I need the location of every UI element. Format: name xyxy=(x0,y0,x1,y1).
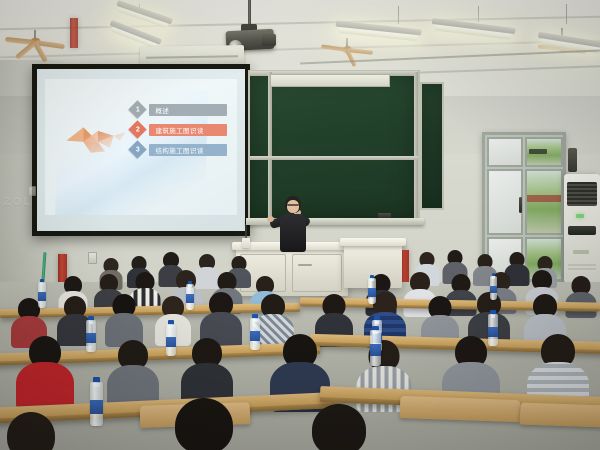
slide-toc: 1 概述 2 建筑施工图识读 xyxy=(131,103,227,163)
audience-member xyxy=(204,292,238,342)
toc-diamond-3: 3 xyxy=(129,141,147,159)
screen-surface: 1 概述 2 建筑施工图识读 xyxy=(37,69,245,231)
ac-grille xyxy=(567,182,597,206)
podium-side-top xyxy=(340,238,406,246)
light-hanger-4 xyxy=(566,4,567,24)
podium-mug[interactable] xyxy=(242,238,250,248)
water-bottle[interactable] xyxy=(86,320,96,352)
light-hanger-2 xyxy=(398,6,399,24)
ac-brand-logo xyxy=(573,250,589,254)
toc-item-1: 1 概述 xyxy=(131,103,227,116)
door-view-red-roof xyxy=(527,195,561,202)
water-bottle[interactable] xyxy=(250,318,260,350)
water-bottle[interactable] xyxy=(370,330,381,366)
toc-number-3: 3 xyxy=(136,146,140,153)
water-bottle[interactable] xyxy=(488,314,498,346)
toc-label-1: 概述 xyxy=(155,105,169,115)
audience-member-foreground xyxy=(166,398,242,450)
door-sign xyxy=(529,149,547,154)
presentation-slide: 1 概述 2 建筑施工图识读 xyxy=(45,79,236,215)
projection-screen[interactable]: 1 概述 2 建筑施工图识读 xyxy=(32,64,250,236)
chalkboard-eraser[interactable] xyxy=(378,213,391,218)
toc-label-bar-2: 建筑施工图识读 xyxy=(149,124,227,136)
toc-item-3: 3 结构施工图识读 xyxy=(131,143,227,156)
toc-number-1: 1 xyxy=(136,106,140,113)
water-bottle[interactable] xyxy=(166,324,176,356)
water-bottle[interactable] xyxy=(186,284,194,310)
classroom-photo: 1 概述 2 建筑施工图识读 xyxy=(0,0,600,450)
audience-member xyxy=(22,336,68,406)
water-bottle[interactable] xyxy=(490,276,497,300)
water-bottle[interactable] xyxy=(90,382,103,426)
toc-label-bar-1: 概述 xyxy=(149,104,227,116)
tangram-bird-graphic xyxy=(57,114,141,168)
door-handle[interactable] xyxy=(519,197,522,213)
toc-diamond-1: 1 xyxy=(129,101,147,119)
audience-member xyxy=(112,340,154,406)
presenter-face xyxy=(287,200,299,213)
projector-vent xyxy=(262,34,276,46)
chalkboard-divider-right xyxy=(414,72,418,218)
door-glass-upper-right xyxy=(525,169,563,235)
chalkboard-mid-rail xyxy=(250,156,418,160)
water-bottle[interactable] xyxy=(368,278,376,304)
toc-item-2: 2 建筑施工图识读 xyxy=(131,123,227,136)
audience-member xyxy=(186,338,228,404)
water-bottle[interactable] xyxy=(38,282,46,308)
door-glass-upper-left xyxy=(487,169,523,235)
ac-status-led xyxy=(576,214,584,218)
toc-label-bar-3: 结构施工图识读 xyxy=(149,144,227,156)
presenter xyxy=(272,196,314,254)
ac-air-vent xyxy=(568,262,595,272)
chalkboard-sliding-panel[interactable] xyxy=(270,74,390,87)
toc-number-2: 2 xyxy=(136,126,140,133)
red-ceiling-beam xyxy=(70,18,78,48)
door-transom-left xyxy=(487,137,523,167)
ceiling-fan-left xyxy=(5,30,65,52)
wall-speaker xyxy=(568,148,577,172)
bench-back xyxy=(520,402,600,427)
presenter-torso xyxy=(280,214,306,252)
presenter-left-hand xyxy=(267,216,274,222)
ceiling-fan-center xyxy=(320,38,374,58)
toc-label-2: 建筑施工图识读 xyxy=(155,125,203,135)
toc-diamond-2: 2 xyxy=(129,121,147,139)
audience-member-foreground xyxy=(304,404,374,450)
presenter-glasses xyxy=(287,204,299,206)
green-chalkboard-right xyxy=(420,82,444,210)
audience-member-foreground xyxy=(0,412,62,450)
floor-standing-ac[interactable] xyxy=(564,174,600,282)
audience-member xyxy=(108,294,140,342)
wall-socket[interactable] xyxy=(28,186,36,196)
wall-light-switch[interactable] xyxy=(88,252,97,264)
podium-panel-right xyxy=(292,254,342,292)
podium-vent xyxy=(298,264,312,266)
ac-control-panel[interactable] xyxy=(568,226,597,235)
toc-label-3: 结构施工图识读 xyxy=(155,145,203,155)
light-hanger-3 xyxy=(478,6,479,22)
bench-back xyxy=(400,396,521,422)
